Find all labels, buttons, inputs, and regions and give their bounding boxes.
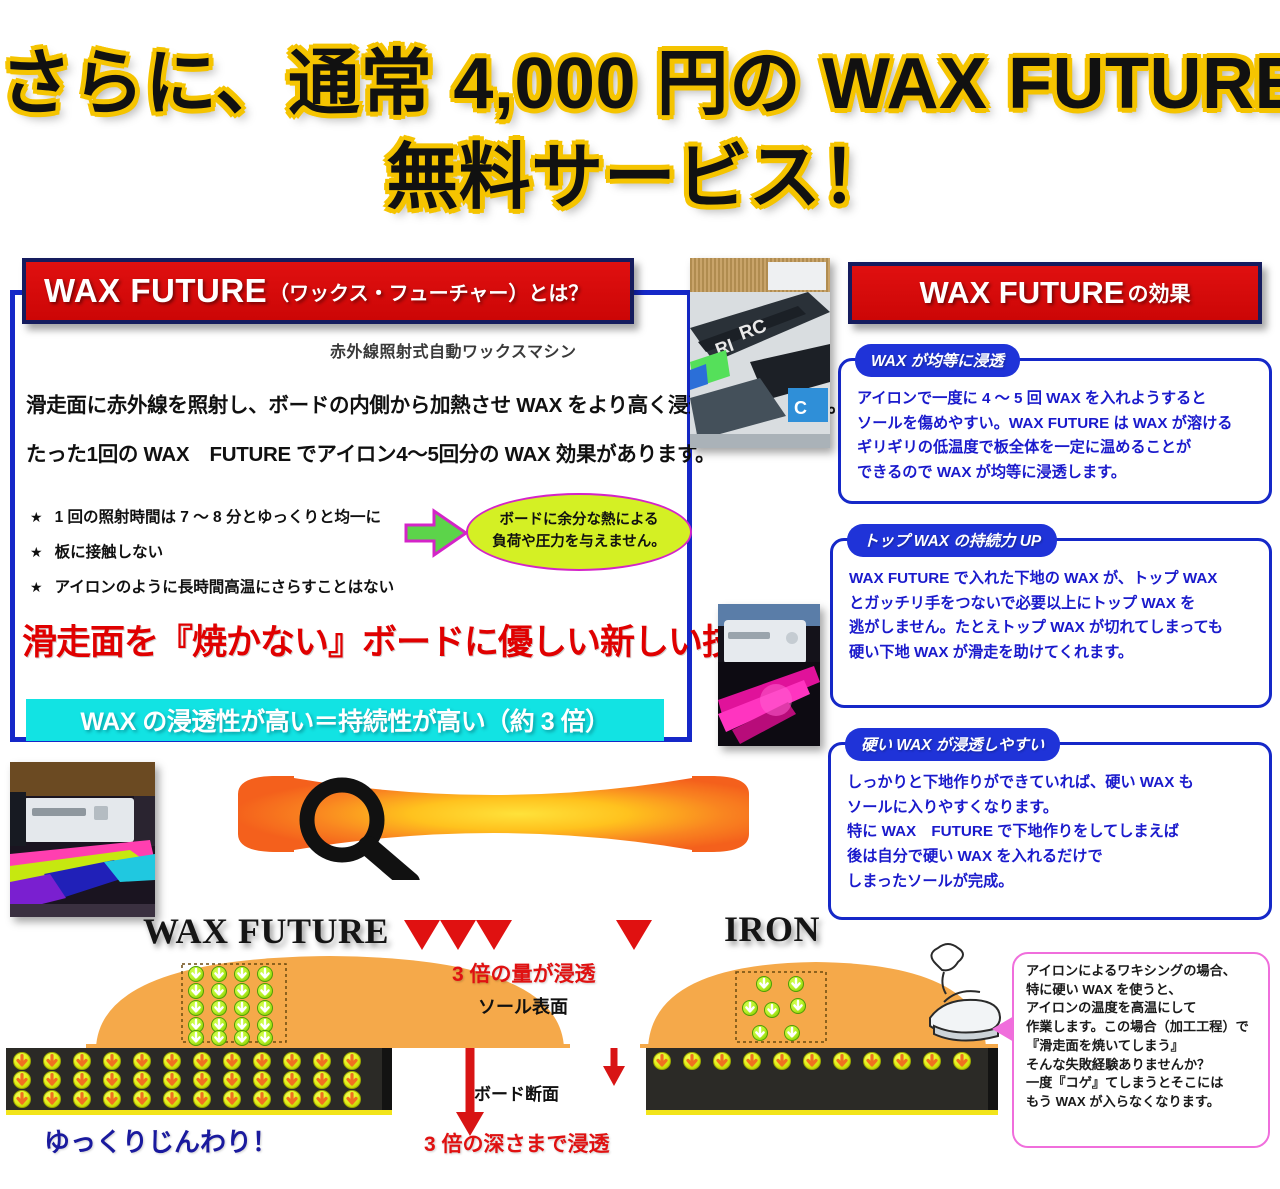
photo-infrared-pink-glow xyxy=(718,604,820,746)
bubble-tail-icon xyxy=(992,1016,1014,1042)
bubble-line-3: アイロンの温度を高温にして xyxy=(1026,999,1262,1018)
right-panel-banner: WAX FUTURE の効果 xyxy=(848,262,1262,324)
left-panel-lead-2: たった1回の WAX FUTURE でアイロン4〜5回分の WAX 効果がありま… xyxy=(26,437,715,467)
effect-1-line-3: ギリギリの低温度で板全体を一定に温めることが xyxy=(857,436,1255,461)
effect-3-line-4: 後は自分で硬い WAX を入れるだけで xyxy=(847,845,1255,870)
label-slow-gentle: ゆっくりじんわり！ xyxy=(44,1122,278,1159)
label-triple-amount: 3 倍の量が浸透 xyxy=(452,958,596,988)
penetration-highlight-band: WAX の浸透性が高い＝持続性が高い（約 3 倍） xyxy=(26,699,664,741)
label-sole-surface: ソール表面 xyxy=(478,993,568,1019)
heat-callout-bubble: ボードに余分な熱による 負荷や圧力を与えません。 xyxy=(466,493,692,571)
left-panel-banner: WAX FUTURE （ワックス・フューチャー）とは？ xyxy=(22,258,634,324)
headline-line-2: 無料サービス！ xyxy=(0,118,1280,223)
cyan-band-text: WAX の浸透性が高い＝持続性が高い（約 3 倍） xyxy=(80,702,609,738)
left-panel-bullet-3: ★アイロンのように長時間高温にさらすことはない xyxy=(30,575,394,597)
left-panel-bullet-1: ★1 回の照射時間は 7 〜 8 分とゆっくりと均一に xyxy=(30,505,381,527)
bubble-line-6: そんな失敗経験ありませんか？ xyxy=(1026,1056,1262,1075)
effect-2-line-2: とガッチリ手をつないで必要以上にトップ WAX を xyxy=(849,592,1255,617)
right-arrow-icon xyxy=(404,505,470,561)
effect-box-top-wax-durability: トップ WAX の持続力 UP WAX FUTURE で入れた下地の WAX が… xyxy=(830,538,1272,708)
bubble-line-5: 『滑走面を焼いてしまう』 xyxy=(1026,1037,1262,1056)
label-triple-depth: 3 倍の深さまで浸透 xyxy=(424,1128,610,1158)
effect-2-line-3: 逃がしません。たとえトップ WAX が切れてしまっても xyxy=(849,616,1255,641)
effect-3-body: しっかりと下地作りができていれば、硬い WAX も ソールに入りやすくなります。… xyxy=(831,745,1269,902)
effect-1-tab: WAX が均等に浸透 xyxy=(855,344,1020,377)
bubble-line-7: 一度『コゲ』てしまうとそこには xyxy=(1026,1074,1262,1093)
effect-3-line-1: しっかりと下地作りができていれば、硬い WAX も xyxy=(847,771,1255,796)
left-banner-subtitle: （ワックス・フューチャー）とは？ xyxy=(269,277,588,306)
svg-text:C: C xyxy=(794,398,807,418)
bubble-line-8: もう WAX が入らなくなります。 xyxy=(1026,1093,1262,1112)
callout-line-2: 負荷や圧力を与えません。 xyxy=(492,532,666,554)
bullet-3-text: アイロンのように長時間高温にさらすことはない xyxy=(55,579,395,596)
effect-1-line-4: できるので WAX が均等に浸透します。 xyxy=(857,461,1255,486)
star-icon: ★ xyxy=(30,579,43,595)
effect-2-line-1: WAX FUTURE で入れた下地の WAX が、トップ WAX xyxy=(849,567,1255,592)
effect-3-tab: 硬い WAX が浸透しやすい xyxy=(845,728,1060,761)
star-icon: ★ xyxy=(30,544,43,560)
photo-colorful-board-machine xyxy=(10,762,155,917)
effect-3-line-2: ソールに入りやすくなります。 xyxy=(847,796,1255,821)
right-banner-subtitle: の効果 xyxy=(1127,278,1190,308)
effect-1-body: アイロンで一度に 4 〜 5 回 WAX を入れようすると ソールを傷めやすい。… xyxy=(841,361,1269,494)
bubble-line-4: 作業します。この場合（加工工程）で xyxy=(1026,1018,1262,1037)
left-panel-bullet-2: ★板に接触しない xyxy=(30,540,163,562)
bullet-1-text: 1 回の照射時間は 7 〜 8 分とゆっくりと均一に xyxy=(55,509,381,526)
label-board-cross-section: ボード断面 xyxy=(474,1080,559,1105)
effect-3-line-3: 特に WAX FUTURE で下地作りをしてしまえば xyxy=(847,820,1255,845)
iron-warning-bubble: アイロンによるワキシングの場合、 特に硬い WAX を使うと、 アイロンの温度を… xyxy=(1012,952,1270,1148)
bullet-2-text: 板に接触しない xyxy=(55,544,164,561)
effect-box-uniform-penetration: WAX が均等に浸透 アイロンで一度に 4 〜 5 回 WAX を入れようすると… xyxy=(838,358,1272,504)
bubble-line-1: アイロンによるワキシングの場合、 xyxy=(1026,962,1262,981)
left-panel-red-headline: 滑走面を『焼かない』ボードに優しい新しい技術。 xyxy=(22,614,804,665)
photo-wax-machine-board: RC RI C xyxy=(690,258,830,448)
effect-box-hard-wax-penetration: 硬い WAX が浸透しやすい しっかりと下地作りができていれば、硬い WAX も… xyxy=(828,742,1272,920)
effect-2-body: WAX FUTURE で入れた下地の WAX が、トップ WAX とガッチリ手を… xyxy=(833,541,1269,674)
right-banner-title: WAX FUTURE xyxy=(920,275,1125,311)
headline-line-1: さらに、通常 4,000 円の WAX FUTURE が、 xyxy=(0,24,1280,129)
effect-1-line-1: アイロンで一度に 4 〜 5 回 WAX を入れようすると xyxy=(857,387,1255,412)
effect-2-tab: トップ WAX の持続力 UP xyxy=(847,524,1057,557)
effect-2-line-4: 硬い下地 WAX が滑走を助けてくれます。 xyxy=(849,641,1255,666)
snowboard-graphic xyxy=(232,772,755,880)
left-panel-subcaption: 赤外線照射式自動ワックスマシン xyxy=(330,338,577,362)
infographic-page: さらに、通常 4,000 円の WAX FUTURE が、 無料サービス！ WA… xyxy=(0,0,1280,1189)
bubble-line-2: 特に硬い WAX を使うと、 xyxy=(1026,981,1262,1000)
star-icon: ★ xyxy=(30,509,43,525)
left-banner-title: WAX FUTURE xyxy=(44,272,267,310)
effect-1-line-2: ソールを傷めやすい。WAX FUTURE は WAX が溶ける xyxy=(857,412,1255,437)
callout-line-1: ボードに余分な熱による xyxy=(499,510,658,532)
effect-3-line-5: しまったソールが完成。 xyxy=(847,870,1255,895)
